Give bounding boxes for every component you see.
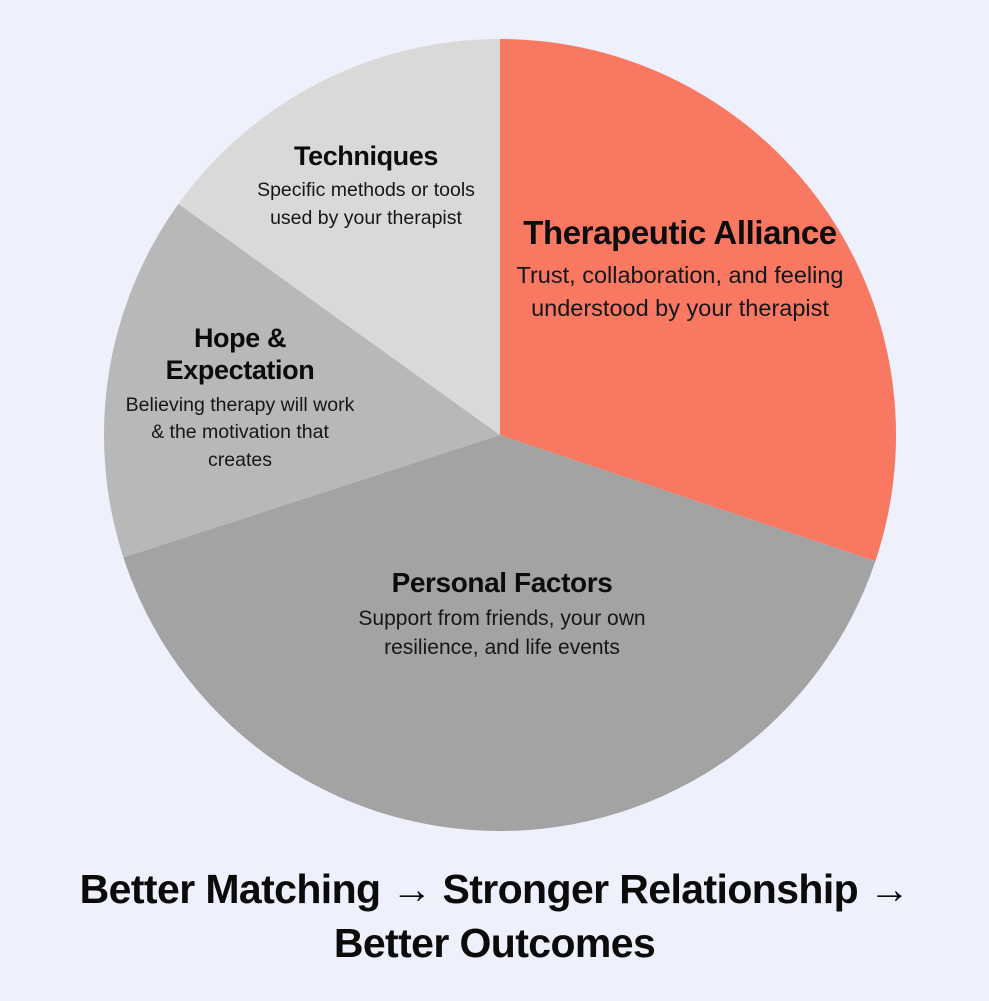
pie-chart: Therapeutic Alliance Trust, collaboratio… [0, 0, 989, 870]
pie-chart-svg [0, 0, 989, 870]
therapy-outcome-infographic: Therapeutic Alliance Trust, collaboratio… [0, 0, 989, 1001]
summary-caption: Better Matching → Stronger Relationship … [0, 862, 989, 970]
